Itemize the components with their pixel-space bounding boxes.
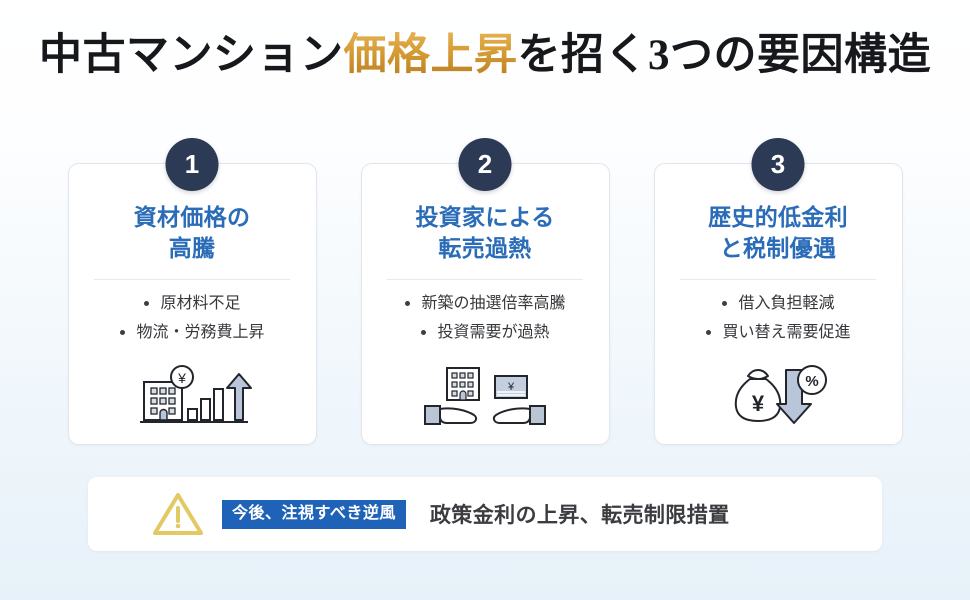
banner-message: 政策金利の上昇、転売制限措置 [430, 499, 730, 529]
svg-text:¥: ¥ [507, 381, 515, 393]
card-illustration-2: ¥ [421, 362, 549, 428]
card-number-badge-1: 1 [166, 138, 219, 191]
factor-card-2[interactable]: 2 投資家による 転売過熱 新築の抽選倍率高騰 投資需要が過熱 ¥ [361, 163, 610, 445]
card-divider-3 [680, 279, 876, 280]
card-bullet-list-1: 原材料不足 物流・労務費上昇 [83, 292, 302, 345]
title-text-after: を招く3つの要因構造 [518, 32, 932, 79]
card-bullet-list-2: 新築の抽選倍率高騰 投資需要が過熱 [376, 292, 595, 345]
list-item: 買い替え需要促進 [705, 321, 850, 345]
hands-exchange-building-money-icon: ¥ [421, 364, 549, 428]
factor-cards-row: 1 資材価格の 高騰 原材料不足 物流・労務費上昇 ¥ [0, 163, 970, 445]
list-item: 借入負担軽減 [721, 292, 834, 316]
page-header: 中古マンション価格上昇を招く3つの要因構造 [0, 0, 970, 80]
page-title: 中古マンション価格上昇を招く3つの要因構造 [0, 31, 970, 80]
svg-text:%: % [805, 373, 818, 390]
list-item: 投資需要が過熱 [420, 321, 549, 345]
factor-card-3[interactable]: 3 歴史的低金利 と税制優遇 借入負担軽減 買い替え需要促進 ¥ % [654, 163, 903, 445]
card-number-badge-3: 3 [752, 138, 805, 191]
card-title-line2: 転売過熱 [415, 233, 554, 264]
card-divider-2 [387, 279, 583, 280]
card-title-1: 資材価格の 高騰 [134, 202, 251, 264]
card-title-3: 歴史的低金利 と税制優遇 [708, 202, 848, 264]
card-title-line1: 資材価格の [134, 202, 251, 233]
money-bag-yen-down-arrow-percent-icon: ¥ % [726, 364, 830, 428]
svg-text:¥: ¥ [752, 391, 765, 416]
card-title-2: 投資家による 転売過熱 [415, 202, 554, 264]
card-illustration-3: ¥ % [726, 362, 830, 428]
card-title-line2: 高騰 [134, 233, 251, 264]
list-item: 原材料不足 [143, 292, 240, 316]
card-divider-1 [94, 279, 290, 280]
warning-banner: 今後、注視すべき逆風 政策金利の上昇、転売制限措置 [88, 477, 882, 551]
list-item: 新築の抽選倍率高騰 [404, 292, 565, 316]
card-title-line1: 歴史的低金利 [708, 202, 848, 233]
banner-badge-label: 今後、注視すべき逆風 [222, 500, 406, 529]
factor-card-1[interactable]: 1 資材価格の 高騰 原材料不足 物流・労務費上昇 ¥ [68, 163, 317, 445]
svg-text:¥: ¥ [177, 370, 186, 386]
building-yen-bar-chart-up-arrow-icon: ¥ [132, 364, 252, 428]
card-title-line2: と税制優遇 [708, 233, 848, 264]
card-number-badge-2: 2 [459, 138, 512, 191]
card-title-line1: 投資家による [415, 202, 554, 233]
warning-triangle-icon [152, 491, 204, 537]
title-text-before: 中古マンション [39, 32, 344, 79]
list-item: 物流・労務費上昇 [119, 321, 264, 345]
card-illustration-1: ¥ [132, 362, 252, 428]
title-text-highlight: 価格上昇 [344, 32, 518, 79]
card-bullet-list-3: 借入負担軽減 買い替え需要促進 [669, 292, 888, 345]
